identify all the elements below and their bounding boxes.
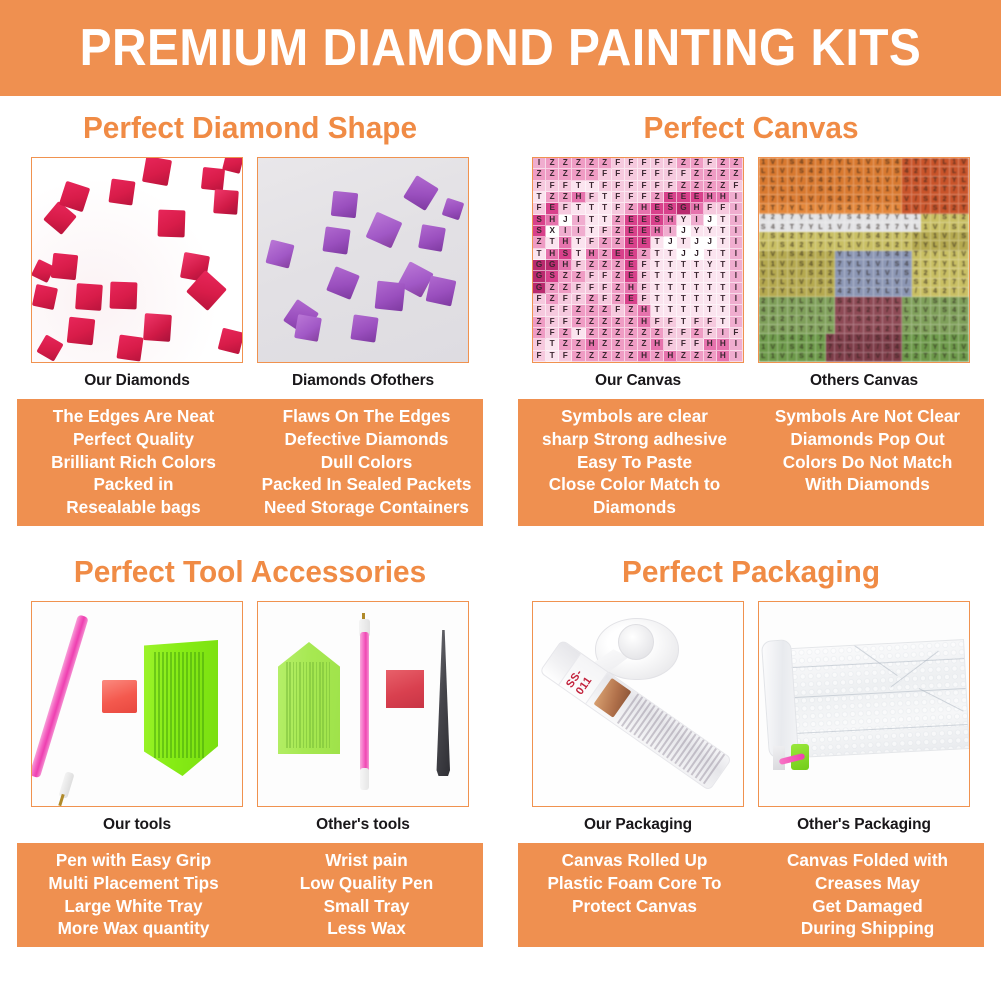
canvas-symbol-cell: 2 xyxy=(788,232,798,241)
canvas-symbol-cell: Z xyxy=(599,158,612,169)
canvas-symbol-cell: 2 xyxy=(797,334,807,343)
canvas-symbol-cell: S xyxy=(940,214,950,223)
canvas-symbol-cell: L xyxy=(959,177,969,186)
canvas-symbol-cell: / xyxy=(902,279,912,288)
canvas-symbol-cell: Z xyxy=(677,181,690,192)
canvas-symbol-cell: 1 xyxy=(893,288,903,297)
canvas-symbol-cell: 4 xyxy=(835,195,845,204)
canvas-symbol-cell: F xyxy=(704,158,717,169)
canvas-symbol-cell: Z xyxy=(586,294,599,305)
canvas-symbol-cell: 1 xyxy=(940,241,950,250)
canvas-symbol-cell: V xyxy=(759,334,769,343)
canvas-symbol-cell: 1 xyxy=(864,353,874,362)
canvas-symbol-cell: L xyxy=(769,177,779,186)
canvas-symbol-cell: G xyxy=(677,203,690,214)
canvas-symbol-cell: T xyxy=(950,195,960,204)
canvas-symbol-cell: 7 xyxy=(883,306,893,315)
canvas-symbol-cell: 4 xyxy=(845,204,855,213)
canvas-symbol-cell: F xyxy=(533,351,546,362)
card-our-canvas[interactable]: IZZZZZFFFFFZZFZZZZZZZFFFFFFFZZZZFFFTTFFF… xyxy=(532,157,744,390)
canvas-symbol-cell: 4 xyxy=(893,251,903,260)
canvas-symbol-cell: 4 xyxy=(950,214,960,223)
canvas-symbol-cell: L xyxy=(769,269,779,278)
canvas-symbol-cell: 4 xyxy=(788,334,798,343)
canvas-symbol-cell: T xyxy=(940,279,950,288)
canvas-symbol-cell: 7 xyxy=(854,186,864,195)
canvas-symbol-cell: T xyxy=(572,181,585,192)
canvas-symbol-cell: V xyxy=(835,223,845,232)
canvas-symbol-cell: T xyxy=(599,215,612,226)
canvas-symbol-cell: J xyxy=(664,237,677,248)
canvas-symbol-cell: 1 xyxy=(921,223,931,232)
canvas-symbol-cell: 1 xyxy=(769,167,779,176)
canvas-symbol-cell: 1 xyxy=(778,269,788,278)
canvas-symbol-cell: I xyxy=(730,305,743,316)
card-other-diamonds[interactable]: Diamonds Ofothers xyxy=(257,157,469,390)
feature-line: Diamonds xyxy=(523,496,745,519)
feature-line: Large White Tray xyxy=(22,895,244,918)
canvas-symbol-cell: Y xyxy=(931,343,941,352)
canvas-symbol-cell: T xyxy=(778,306,788,315)
canvas-symbol-cell: E xyxy=(625,237,638,248)
canvas-symbol-cell: V xyxy=(797,279,807,288)
canvas-symbol-cell: F xyxy=(625,158,638,169)
canvas-symbol-cell: S xyxy=(893,353,903,362)
canvas-symbol-cell: L xyxy=(788,195,798,204)
canvas-symbol-cell: 7 xyxy=(864,288,874,297)
canvas-symbol-cell: 7 xyxy=(788,214,798,223)
other-tools-image xyxy=(258,602,468,806)
canvas-symbol-cell: L xyxy=(854,260,864,269)
card-caption: Other's tools xyxy=(257,807,469,834)
canvas-symbol-cell: Y xyxy=(704,226,717,237)
canvas-symbol-cell: Z xyxy=(612,294,625,305)
canvas-symbol-cell: V xyxy=(874,353,884,362)
canvas-symbol-cell: Z xyxy=(533,169,546,180)
canvas-symbol-cell: Y xyxy=(788,297,798,306)
canvas-symbol-cell: I xyxy=(730,203,743,214)
canvas-symbol-cell: S xyxy=(826,288,836,297)
card-other-canvas[interactable]: 1V/S42T7YL1V/S42T7YL1VL1V/S42T7YL1V/S42T… xyxy=(758,157,970,390)
canvas-symbol-cell: Z xyxy=(625,339,638,350)
canvas-symbol-cell: 1 xyxy=(788,186,798,195)
canvas-symbol-cell: S xyxy=(546,271,559,282)
canvas-symbol-cell: Y xyxy=(677,215,690,226)
canvas-symbol-cell: 7 xyxy=(807,232,817,241)
canvas-symbol-cell: T xyxy=(664,260,677,271)
canvas-symbol-cell: H xyxy=(586,339,599,350)
section-title: Perfect Diamond Shape xyxy=(10,96,490,143)
canvas-symbol-cell: T xyxy=(816,343,826,352)
feature-box-tools: Pen with Easy GripMulti Placement TipsLa… xyxy=(17,843,483,947)
canvas-symbol-cell: 4 xyxy=(864,223,874,232)
canvas-symbol-cell: F xyxy=(559,351,572,362)
canvas-symbol-cell: E xyxy=(638,215,651,226)
canvas-symbol-cell: V xyxy=(845,325,855,334)
canvas-symbol-cell: I xyxy=(730,271,743,282)
canvas-symbol-cell: L xyxy=(864,269,874,278)
canvas-symbol-cell: F xyxy=(533,339,546,350)
card-other-packaging[interactable]: Other's Packaging xyxy=(758,601,970,834)
canvas-symbol-cell: 1 xyxy=(797,195,807,204)
canvas-symbol-cell: / xyxy=(921,297,931,306)
canvas-symbol-cell: 2 xyxy=(874,223,884,232)
canvas-symbol-cell: Y xyxy=(959,186,969,195)
canvas-symbol-cell: 2 xyxy=(845,288,855,297)
canvas-symbol-cell: F xyxy=(559,181,572,192)
canvas-symbol-cell: 1 xyxy=(912,214,922,223)
canvas-symbol-cell: S xyxy=(874,241,884,250)
canvas-symbol-cell: / xyxy=(835,306,845,315)
canvas-symbol-cell: 1 xyxy=(893,195,903,204)
canvas-symbol-cell: T xyxy=(651,294,664,305)
canvas-symbol-cell: E xyxy=(625,249,638,260)
canvas-symbol-cell: Z xyxy=(704,169,717,180)
canvas-symbol-cell: Y xyxy=(778,195,788,204)
canvas-symbol-cell: F xyxy=(612,169,625,180)
canvas-symbol-cell: E xyxy=(625,260,638,271)
canvas-symbol-cell: T xyxy=(778,214,788,223)
canvas-symbol-cell: T xyxy=(651,283,664,294)
canvas-symbol-cell: 7 xyxy=(931,167,941,176)
canvas-symbol-cell: L xyxy=(816,223,826,232)
canvas-symbol-cell: Z xyxy=(691,158,704,169)
canvas-symbol-cell: E xyxy=(677,192,690,203)
canvas-symbol-cell: / xyxy=(912,195,922,204)
canvas-symbol-cell: / xyxy=(788,260,798,269)
canvas-symbol-cell: F xyxy=(559,294,572,305)
canvas-symbol-cell: V xyxy=(816,204,826,213)
canvas-symbol-cell: 7 xyxy=(835,167,845,176)
canvas-symbol-cell: 7 xyxy=(912,241,922,250)
card-caption: Our Diamonds xyxy=(31,363,243,390)
canvas-symbol-cell: S xyxy=(940,306,950,315)
canvas-symbol-cell: 1 xyxy=(807,297,817,306)
section-title: Perfect Packaging xyxy=(511,540,991,587)
canvas-symbol-cell: 1 xyxy=(835,232,845,241)
canvas-symbol-cell: S xyxy=(950,223,960,232)
canvas-symbol-cell: V xyxy=(864,343,874,352)
canvas-symbol-cell: S xyxy=(864,325,874,334)
canvas-symbol-cell: 7 xyxy=(921,251,931,260)
canvas-symbol-cell: / xyxy=(835,214,845,223)
canvas-symbol-cell: S xyxy=(759,223,769,232)
canvas-symbol-cell: H xyxy=(625,283,638,294)
canvas-symbol-cell: V xyxy=(788,177,798,186)
canvas-symbol-cell: L xyxy=(883,288,893,297)
canvas-symbol-cell: S xyxy=(902,269,912,278)
blurry-canvas-image: 1V/S42T7YL1V/S42T7YL1VL1V/S42T7YL1V/S42T… xyxy=(759,158,969,362)
canvas-symbol-cell: T xyxy=(759,288,769,297)
canvas-symbol-cell: / xyxy=(816,288,826,297)
feature-list-theirs: Canvas Folded withCreases MayGet Damaged… xyxy=(753,849,981,940)
canvas-symbol-cell: V xyxy=(959,251,969,260)
canvas-symbol-cell: Y xyxy=(788,204,798,213)
canvas-symbol-cell: 4 xyxy=(912,177,922,186)
canvas-symbol-cell: 4 xyxy=(902,353,912,362)
pink-pen-icon xyxy=(360,632,369,772)
diamond-piece xyxy=(75,283,103,311)
canvas-symbol-cell: I xyxy=(730,192,743,203)
canvas-symbol-cell: F xyxy=(638,283,651,294)
canvas-symbol-cell: / xyxy=(959,241,969,250)
card-our-diamonds[interactable]: Our Diamonds xyxy=(31,157,243,390)
diamond-piece xyxy=(418,224,446,252)
canvas-symbol-cell: 2 xyxy=(864,306,874,315)
canvas-symbol-cell: Y xyxy=(883,297,893,306)
canvas-symbol-cell: T xyxy=(586,226,599,237)
canvas-symbol-cell: 2 xyxy=(816,167,826,176)
section-tool-accessories: Perfect Tool Accessories Our tools xyxy=(0,540,500,947)
canvas-symbol-cell: L xyxy=(854,353,864,362)
canvas-symbol-cell: L xyxy=(912,316,922,325)
canvas-symbol-cell: 1 xyxy=(778,177,788,186)
canvas-symbol-cell: T xyxy=(902,241,912,250)
canvas-symbol-cell: 1 xyxy=(759,251,769,260)
canvas-symbol-cell: T xyxy=(921,260,931,269)
contents-peek xyxy=(773,742,819,774)
canvas-symbol-cell: Y xyxy=(931,158,941,167)
canvas-symbol-cell: Z xyxy=(572,305,585,316)
canvas-symbol-cell: 2 xyxy=(816,353,826,362)
canvas-symbol-cell: T xyxy=(845,279,855,288)
canvas-symbol-cell: / xyxy=(845,223,855,232)
canvas-symbol-cell: T xyxy=(717,226,730,237)
canvas-symbol-cell: Y xyxy=(854,269,864,278)
canvas-symbol-cell: / xyxy=(893,177,903,186)
card-other-tools[interactable]: Other's tools xyxy=(257,601,469,834)
canvas-symbol-cell: Y xyxy=(769,279,779,288)
canvas-symbol-cell: L xyxy=(893,204,903,213)
canvas-symbol-cell: Z xyxy=(717,169,730,180)
canvas-symbol-cell: 2 xyxy=(778,316,788,325)
canvas-symbol-cell: H xyxy=(559,237,572,248)
canvas-symbol-cell: F xyxy=(533,181,546,192)
canvas-symbol-cell: T xyxy=(533,192,546,203)
canvas-symbol-cell: 2 xyxy=(902,251,912,260)
canvas-symbol-cell: Y xyxy=(807,316,817,325)
canvas-symbol-cell: 4 xyxy=(835,288,845,297)
canvas-symbol-cell: F xyxy=(586,283,599,294)
canvas-symbol-cell: F xyxy=(677,169,690,180)
canvas-symbol-cell: 2 xyxy=(788,325,798,334)
canvas-symbol-cell: Z xyxy=(559,158,572,169)
canvas-symbol-cell: H xyxy=(638,203,651,214)
canvas-symbol-cell: 2 xyxy=(959,306,969,315)
feature-box-packaging: Canvas Rolled UpPlastic Foam Core ToProt… xyxy=(518,843,984,947)
canvas-symbol-cell: 2 xyxy=(883,232,893,241)
canvas-symbol-cell: F xyxy=(612,181,625,192)
canvas-symbol-cell: H xyxy=(651,339,664,350)
canvas-symbol-cell: Y xyxy=(797,306,807,315)
canvas-symbol-cell: L xyxy=(854,167,864,176)
canvas-symbol-cell: Z xyxy=(691,351,704,362)
feature-line: Pen with Easy Grip xyxy=(22,849,244,872)
canvas-symbol-cell: Y xyxy=(845,260,855,269)
section-packaging: Perfect Packaging SS-011 xyxy=(501,540,1001,947)
canvas-symbol-cell: L xyxy=(940,158,950,167)
section-canvas: Perfect Canvas IZZZZZFFFFFZZFZZZZZZZFFFF… xyxy=(501,96,1001,526)
canvas-symbol-cell: T xyxy=(599,192,612,203)
canvas-symbol-cell: F xyxy=(546,181,559,192)
canvas-symbol-cell: V xyxy=(788,269,798,278)
canvas-symbol-cell: G xyxy=(533,283,546,294)
canvas-symbol-cell: 1 xyxy=(902,297,912,306)
canvas-symbol-cell: V xyxy=(912,297,922,306)
canvas-symbol-cell: F xyxy=(625,192,638,203)
canvas-symbol-cell: F xyxy=(717,203,730,214)
canvas-symbol-cell: Y xyxy=(769,186,779,195)
canvas-symbol-cell: 7 xyxy=(902,325,912,334)
canvas-symbol-cell: S xyxy=(931,297,941,306)
feature-line: Protect Canvas xyxy=(523,895,745,918)
canvas-symbol-cell: 1 xyxy=(883,279,893,288)
canvas-symbol-cell: V xyxy=(807,288,817,297)
canvas-symbol-cell: T xyxy=(807,241,817,250)
canvas-symbol-cell: T xyxy=(533,249,546,260)
canvas-symbol-cell: T xyxy=(677,260,690,271)
canvas-symbol-cell: F xyxy=(638,294,651,305)
canvas-symbol-cell: 4 xyxy=(950,306,960,315)
canvas-symbol-cell: G xyxy=(533,271,546,282)
canvas-symbol-cell: T xyxy=(788,316,798,325)
canvas-symbol-cell: F xyxy=(730,328,743,339)
canvas-symbol-cell: 2 xyxy=(835,279,845,288)
canvas-symbol-cell: 4 xyxy=(902,260,912,269)
canvas-symbol-cell: H xyxy=(717,351,730,362)
canvas-symbol-cell: L xyxy=(807,214,817,223)
canvas-symbol-cell: I xyxy=(717,328,730,339)
canvas-symbol-cell: V xyxy=(769,158,779,167)
canvas-symbol-cell: 2 xyxy=(931,279,941,288)
canvas-symbol-cell: F xyxy=(546,317,559,328)
canvas-symbol-cell: 2 xyxy=(950,297,960,306)
canvas-symbol-cell: F xyxy=(638,158,651,169)
canvas-symbol-cell: V xyxy=(874,167,884,176)
canvas-symbol-cell: F xyxy=(638,192,651,203)
canvas-symbol-cell: V xyxy=(902,288,912,297)
canvas-symbol-cell: 1 xyxy=(816,214,826,223)
canvas-symbol-cell: 2 xyxy=(854,204,864,213)
canvas-symbol-cell: E xyxy=(638,237,651,248)
canvas-symbol-cell: J xyxy=(704,215,717,226)
canvas-symbol-cell: L xyxy=(940,251,950,260)
canvas-symbol-cell: 7 xyxy=(845,269,855,278)
canvas-symbol-cell: L xyxy=(940,343,950,352)
thumbnail-our-diamonds xyxy=(31,157,243,363)
canvas-symbol-cell: 1 xyxy=(816,306,826,315)
canvas-symbol-cell: V xyxy=(959,158,969,167)
canvas-symbol-cell: V xyxy=(835,316,845,325)
canvas-symbol-cell: T xyxy=(546,339,559,350)
canvas-symbol-cell: S xyxy=(854,316,864,325)
feature-list-theirs: Flaws On The EdgesDefective DiamondsDull… xyxy=(252,405,480,519)
canvas-symbol-cell: / xyxy=(778,343,788,352)
canvas-symbol-cell: F xyxy=(625,181,638,192)
comparison-pair: Our tools Other's tools xyxy=(0,601,500,834)
infographic-page: PREMIUM DIAMOND PAINTING KITS Perfect Di… xyxy=(0,0,1001,1001)
card-our-tools[interactable]: Our tools xyxy=(31,601,243,834)
canvas-symbol-cell: I xyxy=(730,339,743,350)
canvas-symbol-cell: L xyxy=(816,316,826,325)
diamond-piece xyxy=(142,157,172,186)
canvas-symbol-cell: I xyxy=(730,249,743,260)
card-our-packaging[interactable]: SS-011 Our Packaging xyxy=(532,601,744,834)
foam-core-hub-icon xyxy=(618,624,654,660)
canvas-symbol-cell: 7 xyxy=(797,223,807,232)
canvas-symbol-cell: L xyxy=(950,353,960,362)
canvas-symbol-cell: S xyxy=(854,223,864,232)
canvas-symbol-cell: 7 xyxy=(959,288,969,297)
feature-list-ours: Canvas Rolled UpPlastic Foam Core ToProt… xyxy=(520,849,748,940)
canvas-symbol-cell: Z xyxy=(559,192,572,203)
canvas-symbol-cell: T xyxy=(704,294,717,305)
canvas-symbol-cell: V xyxy=(950,241,960,250)
canvas-symbol-cell: Z xyxy=(612,283,625,294)
page-title: PREMIUM DIAMOND PAINTING KITS xyxy=(80,18,922,78)
canvas-symbol-cell: L xyxy=(902,306,912,315)
canvas-symbol-cell: Z xyxy=(612,260,625,271)
canvas-symbol-cell: 1 xyxy=(864,167,874,176)
canvas-symbol-cell: F xyxy=(664,339,677,350)
canvas-symbol-cell: I xyxy=(664,226,677,237)
canvas-symbol-cell: T xyxy=(586,203,599,214)
canvas-symbol-cell: Z xyxy=(651,192,664,203)
canvas-symbol-cell: Z xyxy=(599,249,612,260)
canvas-symbol-cell: F xyxy=(677,328,690,339)
feature-line: Resealable bags xyxy=(22,496,244,519)
canvas-symbol-cell: L xyxy=(950,260,960,269)
canvas-symbol-cell: 4 xyxy=(816,269,826,278)
canvas-symbol-cell: T xyxy=(664,249,677,260)
diamond-piece xyxy=(350,314,378,342)
canvas-symbol-cell: Y xyxy=(912,232,922,241)
canvas-symbol-cell: I xyxy=(730,260,743,271)
feature-line: With Diamonds xyxy=(756,473,978,496)
canvas-symbol-cell: Y xyxy=(816,325,826,334)
canvas-symbol-cell: T xyxy=(704,249,717,260)
section-title: Perfect Canvas xyxy=(511,96,991,143)
canvas-symbol-cell: 4 xyxy=(816,177,826,186)
canvas-symbol-cell: S xyxy=(816,279,826,288)
canvas-symbol-cell: L xyxy=(759,260,769,269)
canvas-symbol-cell: 2 xyxy=(874,316,884,325)
canvas-symbol-cell: 2 xyxy=(826,269,836,278)
canvas-symbol-cell: 4 xyxy=(778,325,788,334)
canvas-symbol-cell: 1 xyxy=(826,316,836,325)
canvas-symbol-cell: Y xyxy=(704,260,717,271)
canvas-symbol-cell: F xyxy=(691,317,704,328)
canvas-symbol-cell: 4 xyxy=(807,167,817,176)
canvas-symbol-cell: E xyxy=(625,271,638,282)
canvas-symbol-cell: H xyxy=(572,192,585,203)
canvas-symbol-cell: / xyxy=(893,269,903,278)
canvas-symbol-cell: 4 xyxy=(759,306,769,315)
card-caption: Other's Packaging xyxy=(758,807,970,834)
diamond-piece xyxy=(36,334,63,361)
canvas-symbol-cell: H xyxy=(691,203,704,214)
canvas-symbol-cell: T xyxy=(717,215,730,226)
canvas-symbol-cell: I xyxy=(730,226,743,237)
diamond-piece xyxy=(201,167,225,191)
canvas-symbol-cell: Y xyxy=(826,334,836,343)
canvas-symbol-cell: T xyxy=(677,283,690,294)
canvas-symbol-cell: 2 xyxy=(912,167,922,176)
canvas-symbol-cell: L xyxy=(864,177,874,186)
canvas-symbol-cell: J xyxy=(691,249,704,260)
canvas-symbol-cell: Z xyxy=(625,351,638,362)
canvas-symbol-cell: V xyxy=(826,306,836,315)
